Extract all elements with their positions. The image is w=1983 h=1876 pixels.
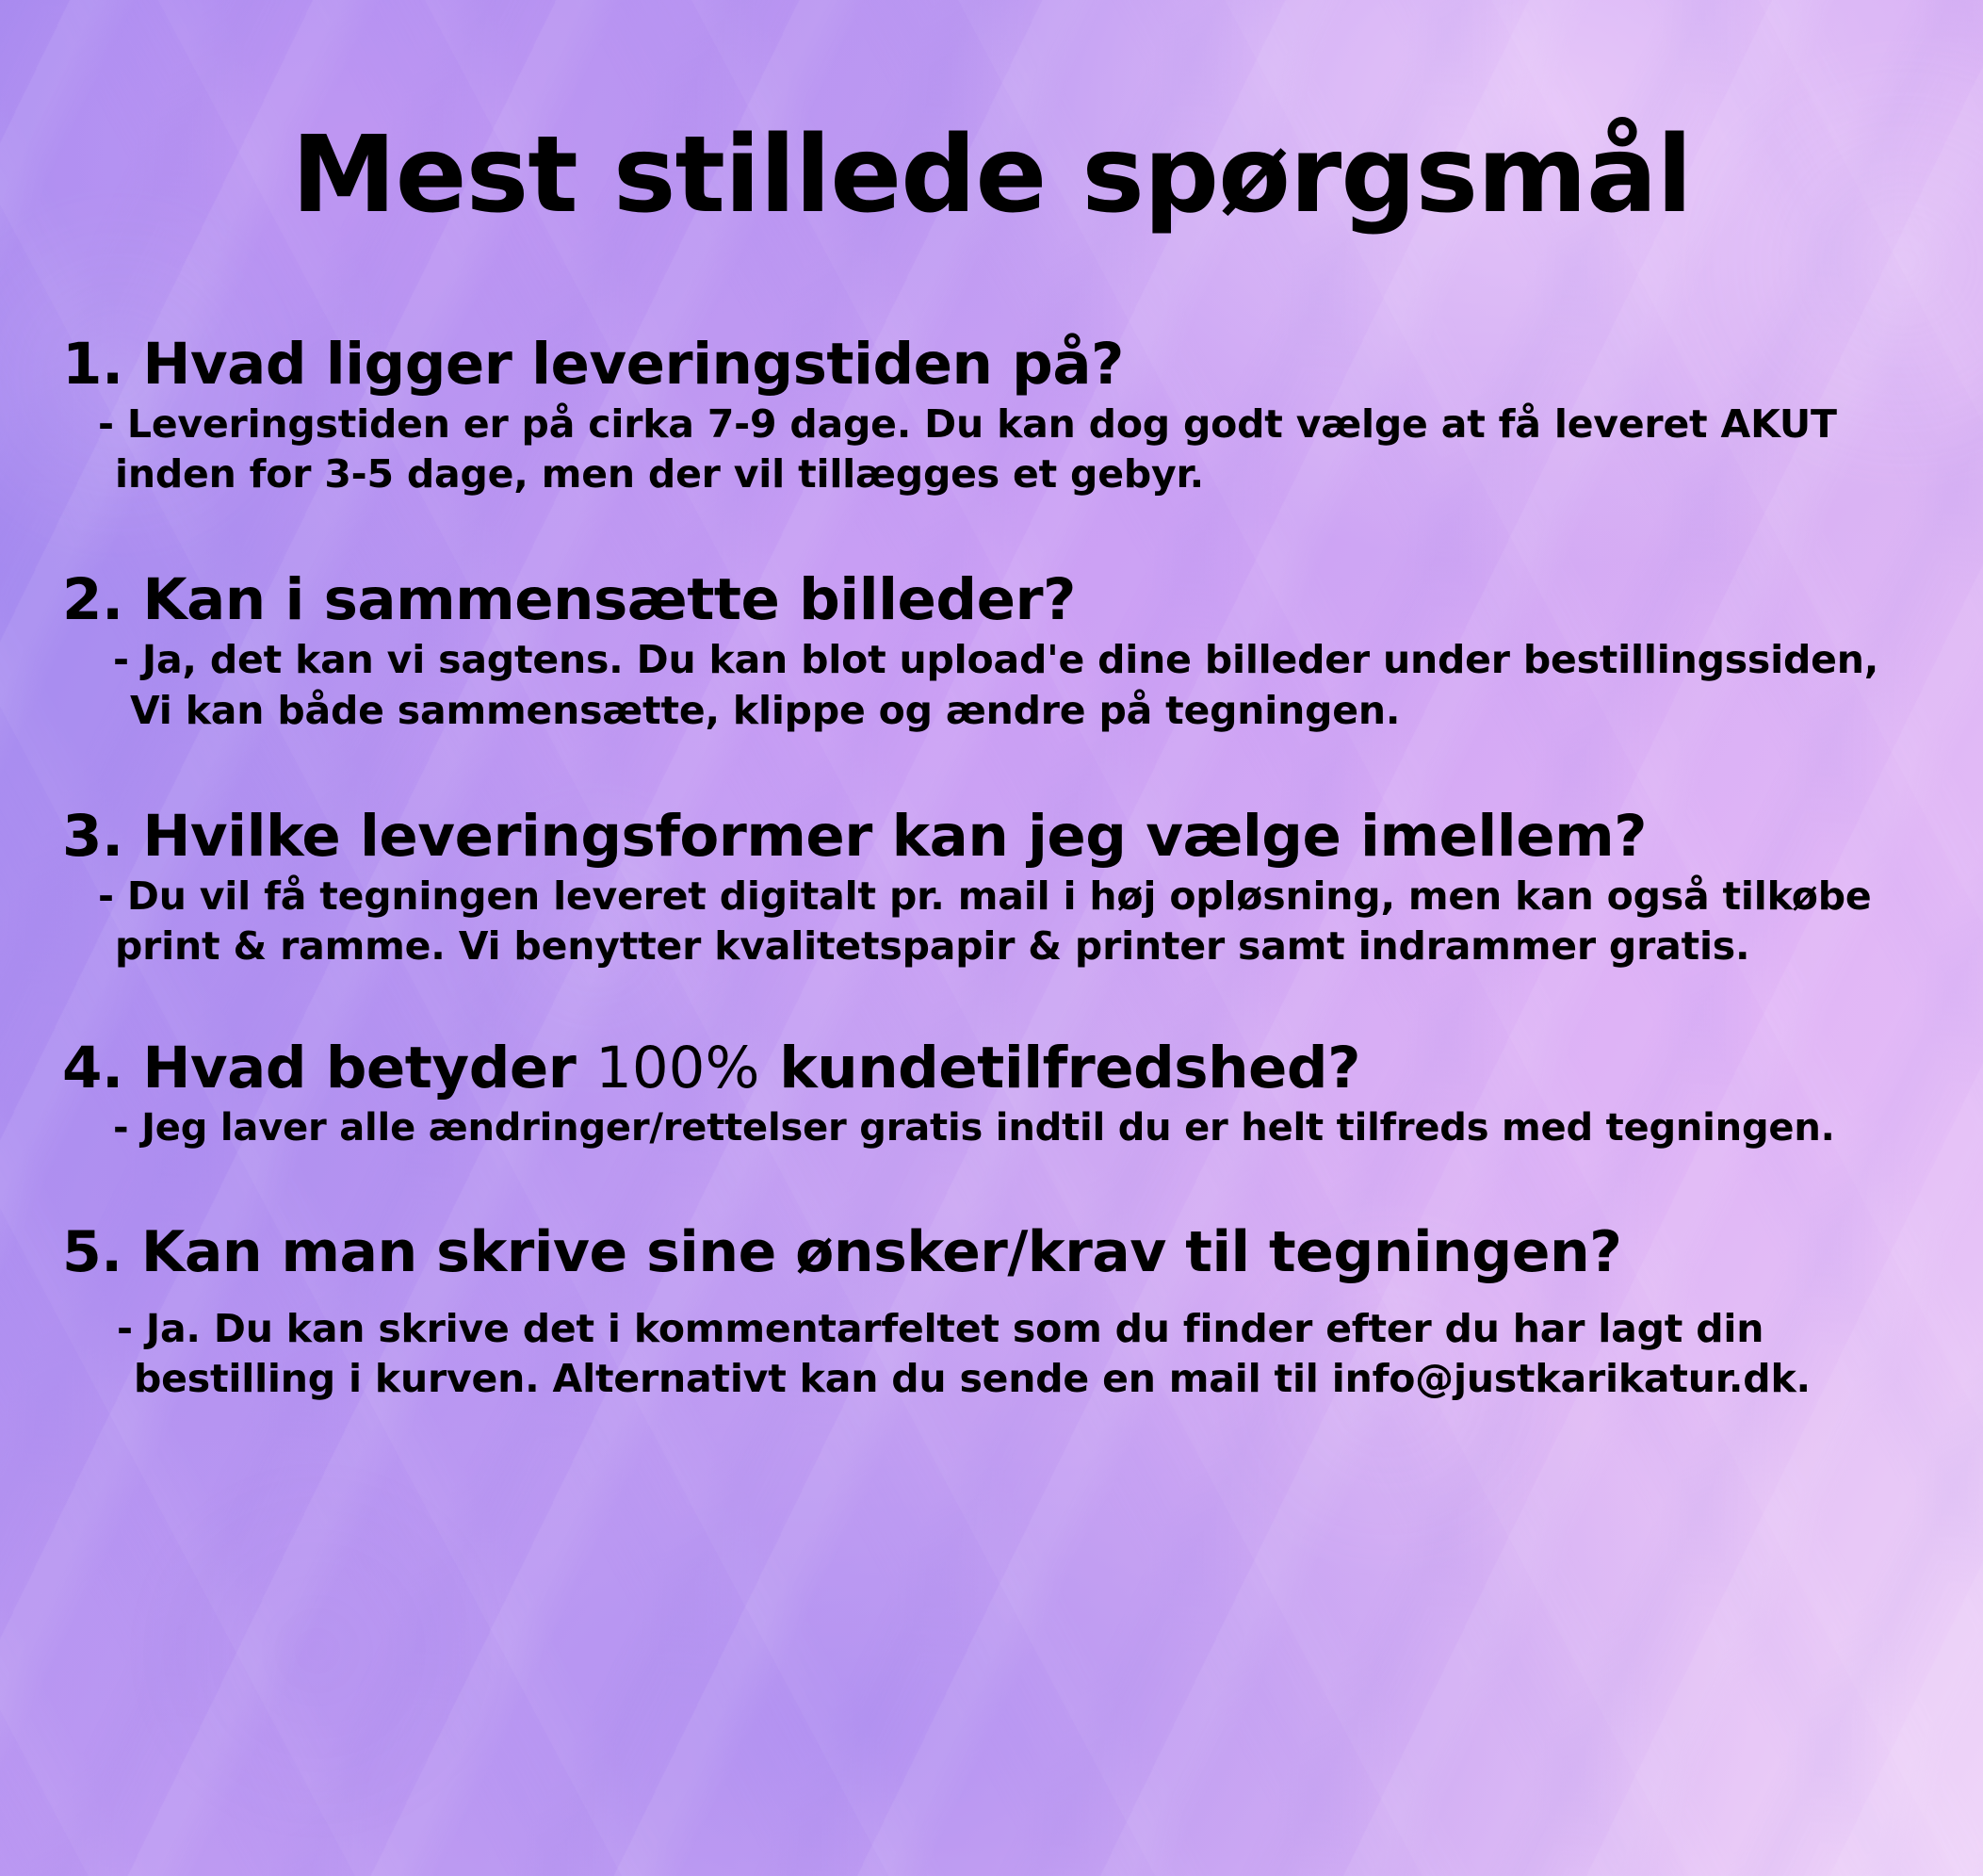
- faq-item: 4. Hvad betyder 100% kundetilfredshed? -…: [41, 1037, 1942, 1152]
- faq-question: 5. Kan man skrive sine ønsker/krav til t…: [62, 1222, 1942, 1283]
- faq-list: 1. Hvad ligger leveringstiden på? - Leve…: [41, 334, 1942, 1405]
- faq-answer-line: inden for 3-5 dage, men der vil tillægge…: [98, 449, 1942, 499]
- faq-question: 1. Hvad ligger leveringstiden på?: [62, 334, 1942, 396]
- faq-answer-line: - Ja. Du kan skrive det i kommentarfelte…: [117, 1304, 1942, 1354]
- faq-question: 4. Hvad betyder 100% kundetilfredshed?: [62, 1037, 1942, 1100]
- faq-question-text-after-percent: kundetilfredshed?: [759, 1035, 1360, 1101]
- faq-answer-line: Vi kan både sammensætte, klippe og ændre…: [113, 686, 1942, 736]
- faq-answer-line: - Jeg laver alle ændringer/rettelser gra…: [113, 1103, 1942, 1152]
- faq-answer: - Ja. Du kan skrive det i kommentarfelte…: [117, 1304, 1942, 1405]
- faq-poster: Mest stillede spørgsmål 1. Hvad ligger l…: [0, 0, 1983, 1876]
- faq-answer-line: print & ramme. Vi benytter kvalitetspapi…: [98, 922, 1942, 971]
- faq-answer-line: - Leveringstiden er på cirka 7-9 dage. D…: [98, 400, 1942, 449]
- faq-answer: - Ja, det kan vi sagtens. Du kan blot up…: [113, 635, 1942, 736]
- poster-content: Mest stillede spørgsmål 1. Hvad ligger l…: [0, 0, 1983, 1876]
- faq-answer-line: bestilling i kurven. Alternativt kan du …: [117, 1354, 1942, 1404]
- faq-answer: - Leveringstiden er på cirka 7-9 dage. D…: [98, 400, 1942, 500]
- faq-answer-line: - Ja, det kan vi sagtens. Du kan blot up…: [113, 635, 1942, 685]
- faq-item: 2. Kan i sammensætte billeder? - Ja, det…: [41, 569, 1942, 735]
- faq-question: 3. Hvilke leveringsformer kan jeg vælge …: [62, 806, 1942, 868]
- faq-item: 3. Hvilke leveringsformer kan jeg vælge …: [41, 806, 1942, 971]
- faq-answer: - Jeg laver alle ændringer/rettelser gra…: [113, 1103, 1942, 1152]
- page-title: Mest stillede spørgsmål: [41, 0, 1942, 228]
- faq-question: 2. Kan i sammensætte billeder?: [62, 569, 1942, 631]
- faq-question-percent-value: 100%: [595, 1035, 759, 1101]
- faq-item: 5. Kan man skrive sine ønsker/krav til t…: [41, 1222, 1942, 1404]
- faq-answer-line: - Du vil få tegningen leveret digitalt p…: [98, 872, 1942, 922]
- faq-question-text-before-percent: 4. Hvad betyder: [62, 1035, 595, 1101]
- faq-answer: - Du vil få tegningen leveret digitalt p…: [98, 872, 1942, 972]
- faq-item: 1. Hvad ligger leveringstiden på? - Leve…: [41, 334, 1942, 499]
